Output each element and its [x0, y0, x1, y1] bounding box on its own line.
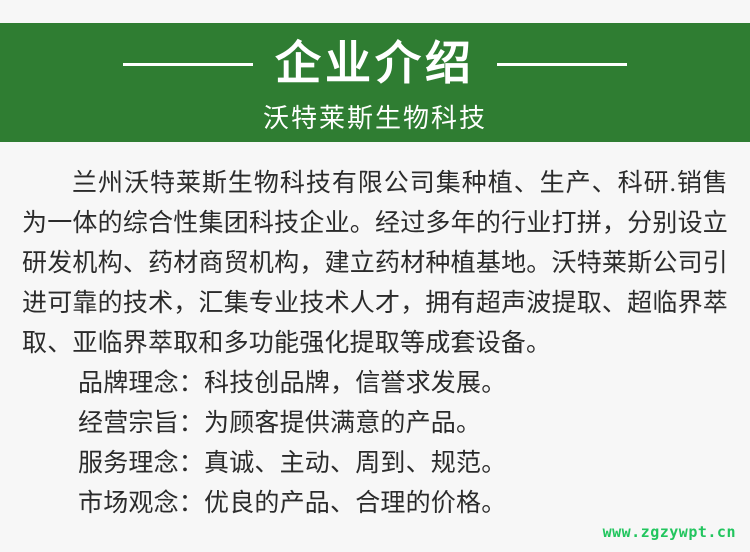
header-banner: 企业介绍 沃特莱斯生物科技 [0, 23, 750, 142]
page-title: 企业介绍 [275, 41, 475, 87]
decorative-rule-right [497, 63, 627, 66]
intro-block: 兰州沃特莱斯生物科技有限公司集种植、生产、科研.销售为一体的综合性集团科技企业。… [22, 164, 728, 364]
header-title-row: 企业介绍 [0, 33, 750, 95]
decorative-rule-left [123, 63, 253, 66]
principle-brand: 品牌理念：科技创品牌，信誉求发展。 [78, 364, 698, 404]
top-background-strip [0, 0, 750, 23]
body-content-area: 兰州沃特莱斯生物科技有限公司集种植、生产、科研.销售为一体的综合性集团科技企业。… [0, 142, 750, 552]
principles-list: 品牌理念：科技创品牌，信誉求发展。 经营宗旨：为顾客提供满意的产品。 服务理念：… [78, 364, 698, 524]
intro-paragraph: 兰州沃特莱斯生物科技有限公司集种植、生产、科研.销售为一体的综合性集团科技企业。… [22, 164, 728, 364]
company-introduction-page: 企业介绍 沃特莱斯生物科技 兰州沃特莱斯生物科技有限公司集种植、生产、科研.销售… [0, 0, 750, 552]
principle-market: 市场观念：优良的产品、合理的价格。 [78, 484, 698, 524]
principle-service: 服务理念：真诚、主动、周到、规范。 [78, 444, 698, 484]
watermark-url: www.zgzywpt.cn [603, 523, 736, 541]
page-subtitle: 沃特莱斯生物科技 [0, 105, 750, 131]
principle-business: 经营宗旨：为顾客提供满意的产品。 [78, 404, 698, 444]
